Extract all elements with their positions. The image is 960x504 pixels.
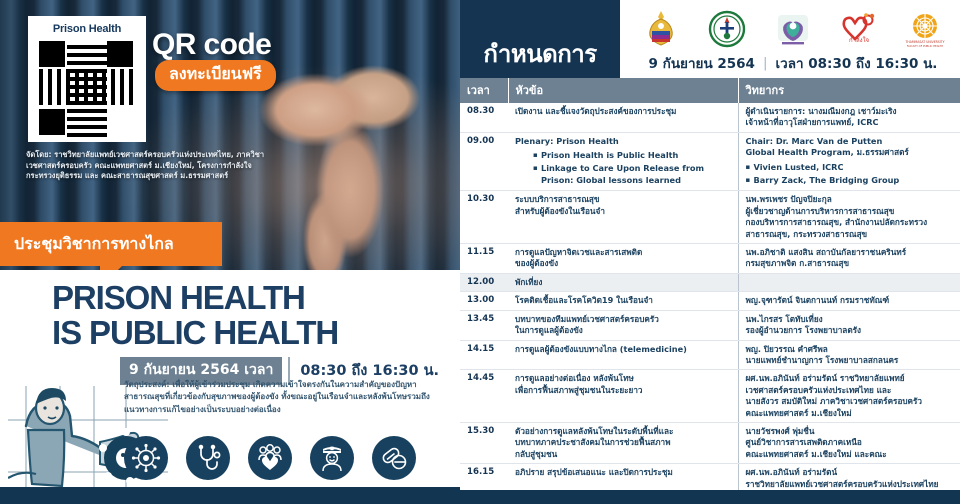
topic-line: ของผู้ต้องขัง: [515, 258, 732, 269]
royal-thai-garuda-logo: [641, 9, 681, 49]
title-line-1: PRISON HEALTH: [52, 280, 452, 315]
topic-line: บทบาทของทีมแพทย์เวชศาสตร์ครอบครัว: [515, 314, 732, 325]
schedule-table: เวลา หัวข้อ วิทยากร 08.30เปิดงาน และชี้แ…: [460, 78, 960, 494]
row-topic: การดูแลปัญหาจิตเวชและสารเสพติดของผู้ต้อง…: [508, 244, 738, 274]
schedule-header: กำหนดการ: [460, 0, 960, 78]
row-time: 13.00: [460, 292, 508, 310]
topic-line: เปิดงาน และชี้แจงวัตถุประสงค์ของการประชุ…: [515, 106, 732, 117]
topic-line: การดูแลผู้ต้องขังแบบทางไกล (telemedicine…: [515, 344, 732, 355]
topic-line: เพื่อการฟื้นสภาพสู่ชุมชนในระยะยาว: [515, 385, 732, 396]
speaker-line: Global Health Program, ม.ธรรมศาสตร์: [746, 147, 955, 158]
table-row: 13.00โรคติดเชื้อและโรคโควิด19 ในเรือนจำพ…: [460, 292, 960, 310]
left-bottom-strip: [0, 487, 460, 504]
row-topic: อภิปราย สรุปข้อเสนอแนะ และปิดการประชุม: [508, 464, 738, 494]
topic-line: ในการดูแลผู้ต้องขัง: [515, 325, 732, 336]
row-topic: ระบบบริการสาธารณสุขสำหรับผู้ต้องขังในเรื…: [508, 191, 738, 244]
topic-line: โรคติดเชื้อและโรคโควิด19 ในเรือนจำ: [515, 295, 732, 306]
schedule-meta-separator: |: [763, 55, 768, 71]
col-speaker: วิทยากร: [738, 78, 960, 103]
speaker-line: นายวัชรพงศ์ พุ่มชื่น: [746, 426, 955, 437]
family-heart-icon: [248, 436, 292, 480]
row-time: 14.15: [460, 340, 508, 370]
speaker-line: นพ.ไกรสร โตทับเที่ยง: [746, 314, 955, 325]
schedule-body: 08.30เปิดงาน และชี้แจงวัตถุประสงค์ของการ…: [460, 103, 960, 493]
schedule-header-block: กำหนดการ: [460, 0, 620, 78]
row-time: 14.45: [460, 370, 508, 423]
table-row: 14.15การดูแลผู้ต้องขังแบบทางไกล (telemed…: [460, 340, 960, 370]
row-time: 10.30: [460, 191, 508, 244]
svg-text:THAMMASAT UNIVERSITY: THAMMASAT UNIVERSITY: [905, 40, 945, 44]
table-row: 13.45บทบาทของทีมแพทย์เวชศาสตร์ครอบครัวใน…: [460, 310, 960, 340]
speaker-line: ราชวิทยาลัยแพทย์เวชศาสตร์ครอบครัวแห่งประ…: [746, 479, 955, 490]
svg-text:กำลังใจ: กำลังใจ: [849, 36, 869, 44]
row-time: 12.00: [460, 273, 508, 291]
speaker-bullet: Barry Zack, The Bridging Group: [754, 175, 955, 186]
objective-text: วัตถุประสงค์: เพื่อให้ผู้เข้าร่วมประชุม …: [124, 379, 454, 416]
poster-left-panel: Prison Health QR code ลงทะเบียนฟรี จัดโด…: [0, 0, 460, 504]
row-topic: พักเที่ยง: [508, 273, 738, 291]
topic-line: อภิปราย สรุปข้อเสนอแนะ และปิดการประชุม: [515, 467, 732, 478]
speaker-line: นายสังวร สมบัติใหม่ ภาควิชาเวชศาสตร์ครอบ…: [746, 396, 955, 407]
row-time: 08.30: [460, 103, 508, 132]
speaker-line: รองผู้อำนวยการ โรงพยาบาลตรัง: [746, 325, 955, 336]
speaker-line: Chair: Dr. Marc Van de Putten: [746, 136, 955, 147]
table-row: 15.30ตัวอย่างการดูแลหลังพ้นโทษในระดับพื้…: [460, 422, 960, 463]
speaker-line: คณะแพทยศาสตร์ ม.เชียงใหม่ และคณะ: [746, 449, 955, 460]
topic-line: Plenary: Prison Health: [515, 136, 732, 147]
row-speaker: นายวัชรพงศ์ พุ่มชื่นศูนย์วิชาการสารเสพติ…: [738, 422, 960, 463]
speaker-line: นพ.อภิชาติ แสงสิน สถาบันกัลยาราชนครินทร์: [746, 247, 955, 258]
table-row: 11.15การดูแลปัญหาจิตเวชและสารเสพติดของผู…: [460, 244, 960, 274]
speaker-line: เจ้าหน้าที่อาวุโสฝ่ายการแพทย์, ICRC: [746, 117, 955, 128]
virus-icon: [124, 436, 168, 480]
row-topic: การดูแลอย่างต่อเนื่อง หลังพ้นโทษเพื่อการ…: [508, 370, 738, 423]
row-speaker: นพ.ไกรสร โตทับเที่ยงรองผู้อำนวยการ โรงพย…: [738, 310, 960, 340]
speaker-line: พญ.จุฑารัตน์ จินตกานนท์ กรมราชทัณฑ์: [746, 295, 955, 306]
row-topic: บทบาทของทีมแพทย์เวชศาสตร์ครอบครัวในการดู…: [508, 310, 738, 340]
department-of-corrections-logo: [707, 9, 747, 49]
webinar-bubble-label: ประชุมวิชาการทางไกล: [14, 232, 174, 257]
poster-right-panel: กำหนดการ: [460, 0, 960, 504]
topic-line: ระบบบริการสาธารณสุข: [515, 194, 732, 205]
table-header-row: เวลา หัวข้อ วิทยากร: [460, 78, 960, 103]
row-topic: โรคติดเชื้อและโรคโควิด19 ในเรือนจำ: [508, 292, 738, 310]
col-time: เวลา: [460, 78, 508, 103]
row-speaker: พญ. ปิยวรรณ คำศรีพลนายแพทย์ชำนาญการ โรงพ…: [738, 340, 960, 370]
schedule-title: กำหนดการ: [483, 34, 596, 73]
partner-logos: กำลังใจ THAMMASAT UNIVERSITY FACULTY OF: [628, 8, 958, 50]
right-bottom-strip: [460, 490, 960, 504]
free-registration-badge[interactable]: ลงทะเบียนฟรี: [155, 60, 276, 91]
topic-line: ตัวอย่างการดูแลหลังพ้นโทษในระดับพื้นที่แ…: [515, 426, 732, 437]
row-speaker: ผศ.นพ.อภินันท์ อร่ามรัตน์ ราชวิทยาลัยแพท…: [738, 370, 960, 423]
row-speaker: พญ.จุฑารัตน์ จินตกานนท์ กรมราชทัณฑ์: [738, 292, 960, 310]
schedule-time: เวลา 08:30 ถึง 16:30 น.: [776, 52, 938, 74]
svg-text:FACULTY OF PUBLIC HEALTH: FACULTY OF PUBLIC HEALTH: [907, 44, 943, 48]
row-time: 16.15: [460, 464, 508, 494]
topic-line: สำหรับผู้ต้องขังในเรือนจำ: [515, 206, 732, 217]
topic-line: การดูแลอย่างต่อเนื่อง หลังพ้นโทษ: [515, 373, 732, 384]
organizers-text: จัดโดย: ราชวิทยาลัยแพทย์เวชศาสตร์ครอบครั…: [26, 150, 276, 182]
health-icon-row: [124, 436, 416, 480]
speaker-line: ผู้เชี่ยวชาญด้านการบริหารการสาธารณสุข: [746, 206, 955, 217]
pills-icon: [372, 436, 416, 480]
speaker-line: คณะแพทยศาสตร์ ม.เชียงใหม่: [746, 408, 955, 419]
page-title: PRISON HEALTH IS PUBLIC HEALTH: [52, 280, 452, 350]
speaker-line: ศูนย์วิชาการสารเสพติดภาคเหนือ: [746, 437, 955, 448]
stethoscope-icon: [186, 436, 230, 480]
row-time: 13.45: [460, 310, 508, 340]
row-speaker: [738, 273, 960, 291]
table-row: 12.00พักเที่ยง: [460, 273, 960, 291]
table-row: 14.45การดูแลอย่างต่อเนื่อง หลังพ้นโทษเพื…: [460, 370, 960, 423]
topic-line: การดูแลปัญหาจิตเวชและสารเสพติด: [515, 247, 732, 258]
speaker-line: พญ. ปิยวรรณ คำศรีพล: [746, 344, 955, 355]
row-speaker: ผศ.นพ.อภินันท์ อร่ามรัตน์ราชวิทยาลัยแพทย…: [738, 464, 960, 494]
topic-line: กลับสู่ชุมชน: [515, 449, 732, 460]
row-time: 09.00: [460, 132, 508, 191]
table-row: 16.15อภิปราย สรุปข้อเสนอแนะ และปิดการประ…: [460, 464, 960, 494]
speaker-line: นพ.พรเพชร ปัญจปิยะกุล: [746, 194, 955, 205]
schedule-date: 9 กันยายน 2564: [649, 52, 755, 74]
speaker-line: ผศ.นพ.อภินันท์ อร่ามรัตน์: [746, 467, 955, 478]
row-speaker: ผู้ดำเนินรายการ: นางมณีมงกฎ เชาว์มะเริงเ…: [738, 103, 960, 132]
family-medicine-logo: [773, 9, 813, 49]
speaker-line: กองบริหารการสาธารณสุข, สำนักงานปลัดกระทร…: [746, 217, 955, 228]
row-topic: ตัวอย่างการดูแลหลังพ้นโทษในระดับพื้นที่แ…: [508, 422, 738, 463]
speaker-line: ผู้ดำเนินรายการ: นางมณีมงกฎ เชาว์มะเริง: [746, 106, 955, 117]
row-time: 11.15: [460, 244, 508, 274]
speaker-line: เวชศาสตร์ครอบครัวแห่งประเทศไทย และ: [746, 385, 955, 396]
speaker-line: สาธารณสุข, กระทรวงสาธารณสุข: [746, 229, 955, 240]
nurse-icon: [310, 436, 354, 480]
row-topic: เปิดงาน และชี้แจงวัตถุประสงค์ของการประชุ…: [508, 103, 738, 132]
qr-card: Prison Health: [28, 16, 146, 142]
row-speaker: นพ.อภิชาติ แสงสิน สถาบันกัลยาราชนครินทร์…: [738, 244, 960, 274]
topic-line: บทบาทภาคประชาสังคมในการช่วยฟื้นสภาพ: [515, 437, 732, 448]
qr-headline: QR code: [152, 28, 271, 62]
topic-line: พักเที่ยง: [515, 277, 732, 288]
row-topic: การดูแลผู้ต้องขังแบบทางไกล (telemedicine…: [508, 340, 738, 370]
kamlangjai-project-logo: กำลังใจ: [839, 9, 879, 49]
row-speaker: นพ.พรเพชร ปัญจปิยะกุลผู้เชี่ยวชาญด้านการ…: [738, 191, 960, 244]
table-row: 10.30ระบบบริการสาธารณสุขสำหรับผู้ต้องขัง…: [460, 191, 960, 244]
speaker-line: ผศ.นพ.อภินันท์ อร่ามรัตน์ ราชวิทยาลัยแพท…: [746, 373, 955, 384]
row-topic: Plenary: Prison HealthPrison Health is P…: [508, 132, 738, 191]
speaker-bullet: Vivien Lusted, ICRC: [754, 162, 955, 173]
thammasat-university-public-health-logo: THAMMASAT UNIVERSITY FACULTY OF PUBLIC H…: [905, 9, 945, 49]
row-speaker: Chair: Dr. Marc Van de PuttenGlobal Heal…: [738, 132, 960, 191]
row-time: 15.30: [460, 422, 508, 463]
table-row: 08.30เปิดงาน และชี้แจงวัตถุประสงค์ของการ…: [460, 103, 960, 132]
qr-code-image[interactable]: [37, 39, 137, 139]
qr-card-title: Prison Health: [36, 22, 138, 36]
col-topic: หัวข้อ: [508, 78, 738, 103]
title-line-2: IS PUBLIC HEALTH: [52, 315, 452, 350]
table-row: 09.00Plenary: Prison HealthPrison Health…: [460, 132, 960, 191]
schedule-header-meta: 9 กันยายน 2564 | เวลา 08:30 ถึง 16:30 น.: [628, 52, 958, 74]
speaker-line: กรมสุขภาพจิต ก.สาธารณสุข: [746, 258, 955, 269]
conference-poster: Prison Health QR code ลงทะเบียนฟรี จัดโด…: [0, 0, 960, 504]
topic-bullet: Linkage to Care Upon Release from Prison…: [541, 163, 732, 186]
topic-bullet: Prison Health is Public Health: [541, 150, 732, 161]
speaker-line: นายแพทย์ชำนาญการ โรงพยาบาลสกลนคร: [746, 355, 955, 366]
